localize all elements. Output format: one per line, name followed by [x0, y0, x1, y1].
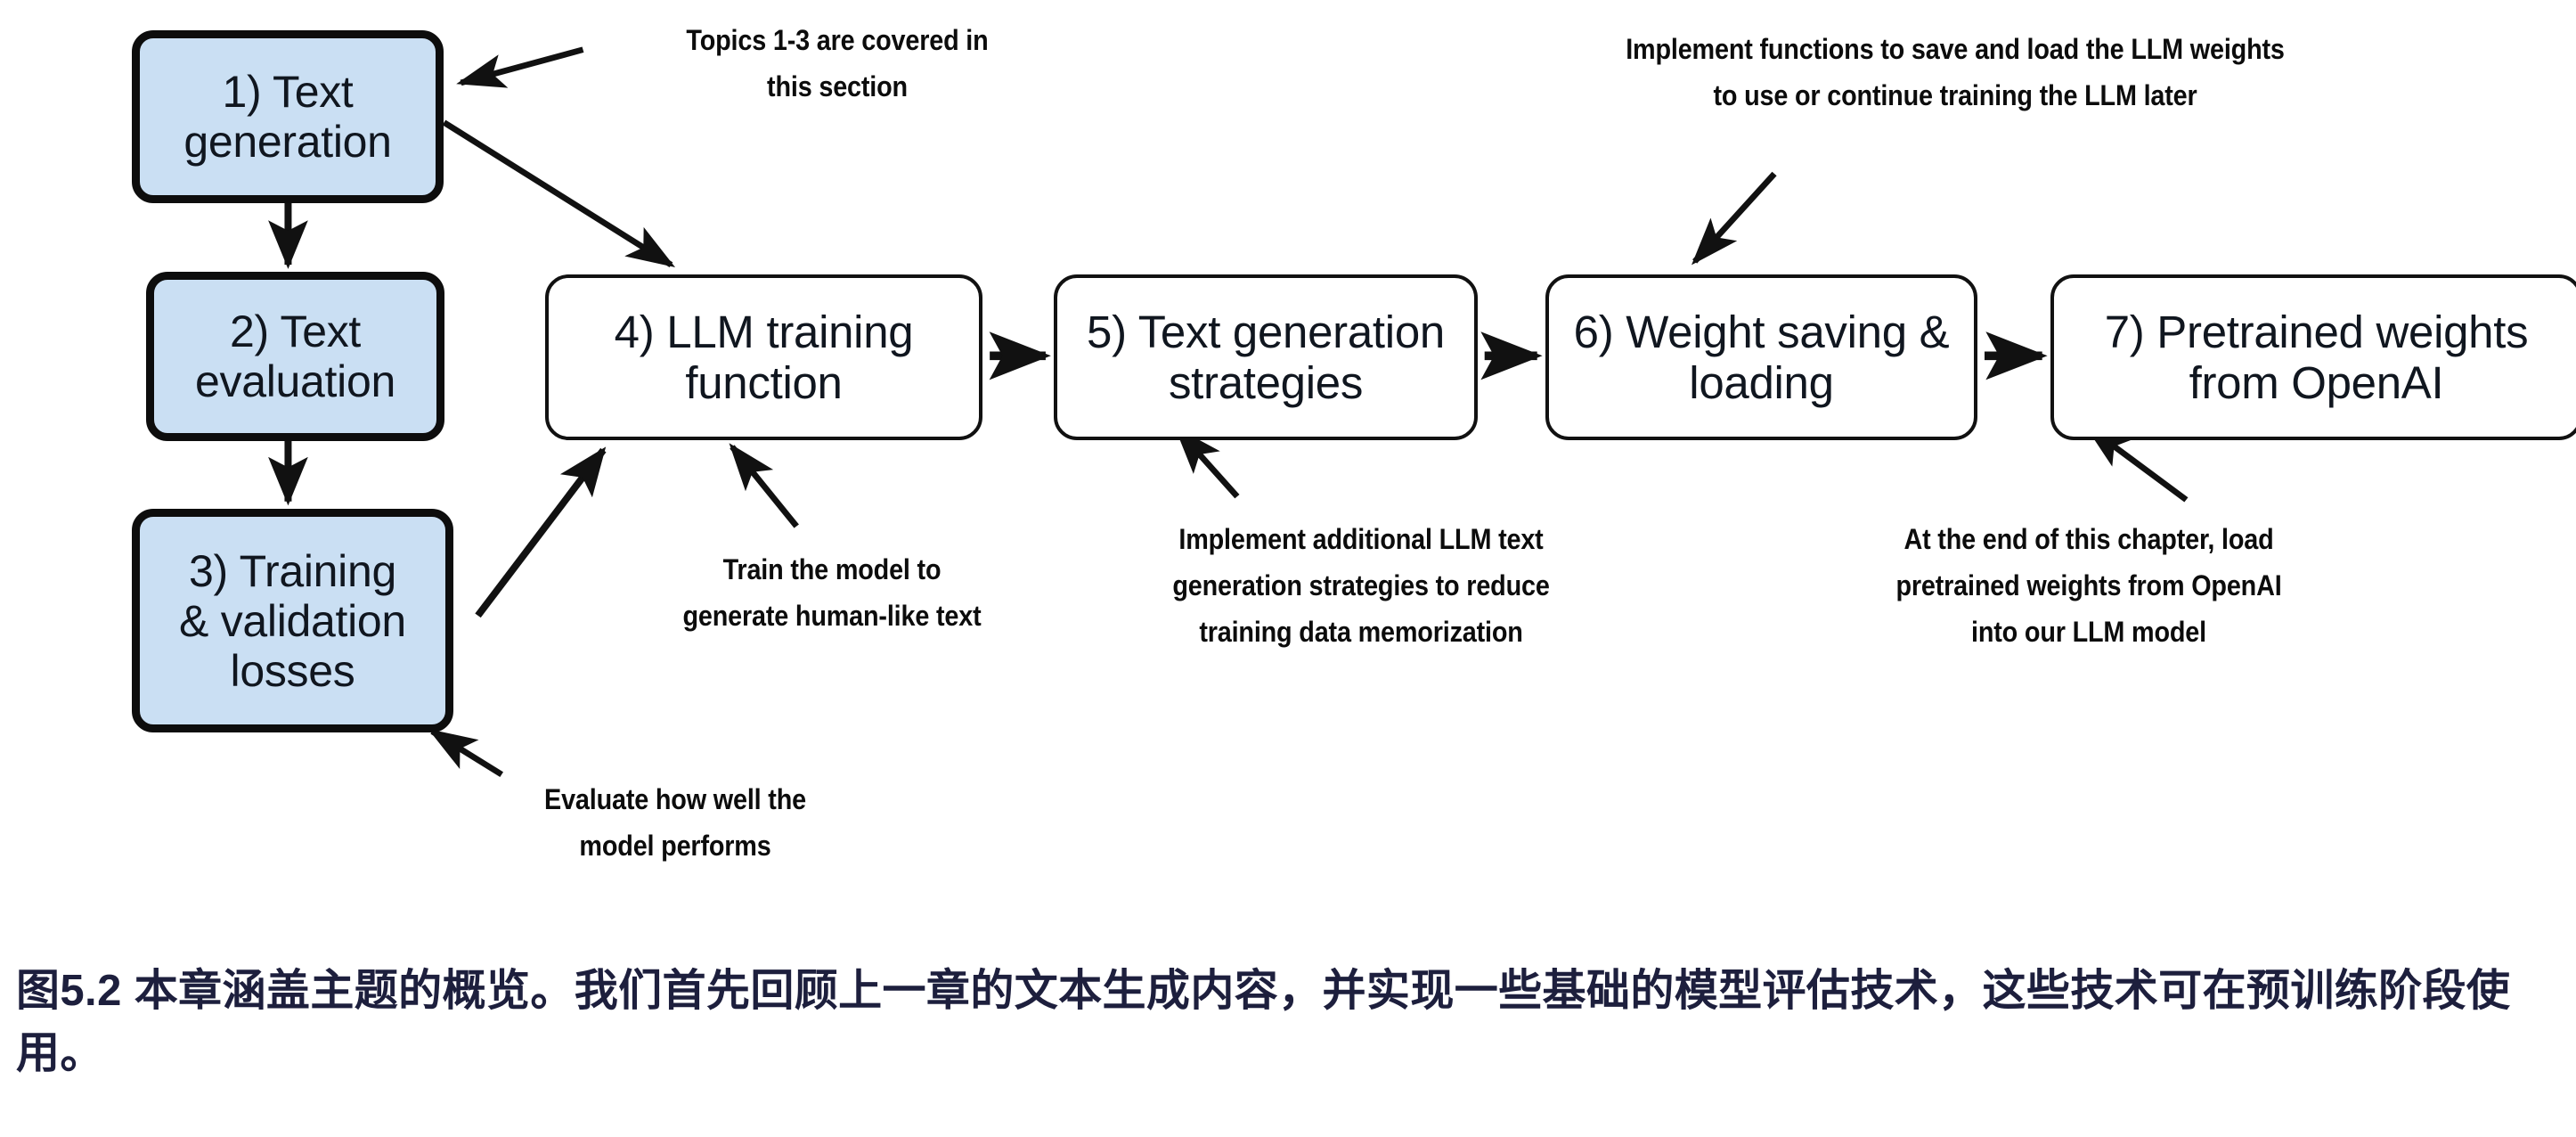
node-llm-training-function-label: 4) LLM training function: [606, 307, 923, 408]
arrow-note-strategies-to-node5: [1178, 430, 1237, 496]
node-text-generation[interactable]: 1) Text generation: [132, 30, 444, 203]
node-pretrained-weights-openai[interactable]: 7) Pretrained weights from OpenAI: [2050, 274, 2576, 440]
annotation-additional-strategies: Implement additional LLM text generation…: [1080, 517, 1642, 655]
figure-caption: 图5.2 本章涵盖主题的概览。我们首先回顾上一章的文本生成内容，并实现一些基础的…: [16, 961, 2564, 1084]
annotation-topics-covered: Topics 1-3 are covered in this section: [613, 18, 1062, 110]
figure-root: 1) Text generation 2) Text evaluation 3)…: [0, 0, 2576, 1137]
arrow-note-topics-to-node1: [461, 50, 583, 83]
node-pretrained-weights-openai-label: 7) Pretrained weights from OpenAI: [2096, 307, 2538, 408]
annotation-load-pretrained-openai: At the end of this chapter, load pretrai…: [1805, 517, 2374, 655]
node-text-evaluation[interactable]: 2) Text evaluation: [146, 272, 444, 441]
arrow-note-evaluate-to-node3: [432, 732, 501, 774]
annotation-train-model: Train the model to generate human-like t…: [615, 547, 1048, 640]
node-text-evaluation-label: 2) Text evaluation: [186, 307, 404, 406]
arrow-note-train-to-node4: [732, 446, 796, 526]
arrow-note-topics-to-node4: [444, 122, 671, 265]
node-weight-saving-loading-label: 6) Weight saving & loading: [1565, 307, 1959, 408]
node-training-validation-losses-label: 3) Training & validation losses: [170, 546, 415, 696]
node-text-generation-label: 1) Text generation: [175, 67, 400, 167]
node-text-generation-strategies[interactable]: 5) Text generation strategies: [1054, 274, 1478, 440]
node-text-generation-strategies-label: 5) Text generation strategies: [1078, 307, 1454, 408]
diagram-canvas: 1) Text generation 2) Text evaluation 3)…: [0, 0, 2576, 927]
node-llm-training-function[interactable]: 4) LLM training function: [545, 274, 982, 440]
arrow-node3-to-node4: [478, 450, 604, 616]
annotation-save-load-weights: Implement functions to save and load the…: [1479, 27, 2433, 119]
node-weight-saving-loading[interactable]: 6) Weight saving & loading: [1545, 274, 1977, 440]
arrow-note-weights-to-node6: [1695, 174, 1774, 261]
node-training-validation-losses[interactable]: 3) Training & validation losses: [132, 509, 453, 732]
annotation-evaluate-model: Evaluate how well the model performs: [452, 777, 898, 870]
